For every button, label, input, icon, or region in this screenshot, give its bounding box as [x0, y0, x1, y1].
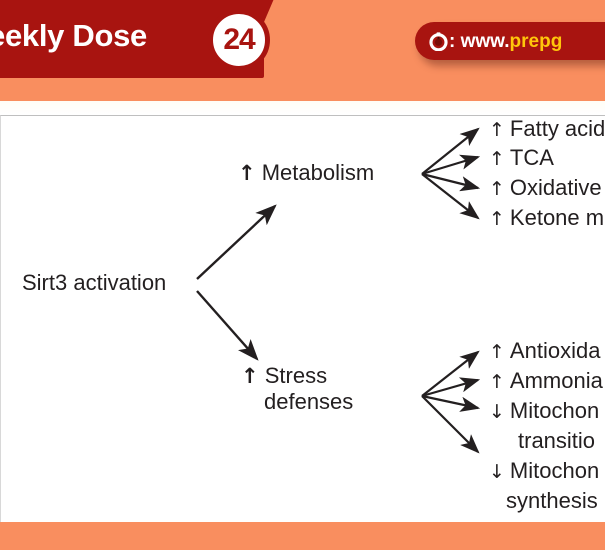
website-url-pill[interactable]: : www.prepg — [415, 22, 605, 60]
arrow-sirt3-to-stress — [197, 291, 257, 359]
outcome-stress-4: ↓Mitochon — [489, 458, 599, 485]
outcome-stress-3: ↓Mitochon — [489, 398, 599, 425]
arrow-stress-2 — [422, 380, 478, 396]
outcome-stress-1-label: Antioxida — [510, 338, 601, 363]
up-arrow-icon: ↑ — [489, 341, 505, 363]
node-sirt3-activation: Sirt3 activation — [22, 270, 166, 296]
outcome-metabolism-3: ↑Oxidative — [489, 175, 602, 202]
arrow-metabolism-2 — [422, 157, 478, 174]
diagram-panel: Sirt3 activation ↑ Metabolism ↑ Stress d… — [0, 115, 605, 522]
url-accent: prepg — [510, 31, 563, 52]
issue-number-label: 24 — [223, 25, 254, 55]
up-arrow-icon: ↑ — [489, 119, 505, 141]
outcome-stress-3-continuation: transitio — [518, 428, 595, 454]
node-metabolism: ↑ Metabolism — [238, 160, 374, 186]
outcome-metabolism-1: ↑Fatty acid — [489, 116, 605, 143]
header-underline — [0, 101, 605, 115]
url-prefix: : www. — [449, 31, 510, 52]
node-metabolism-label: Metabolism — [262, 160, 374, 185]
footer-band — [0, 522, 605, 550]
outcome-metabolism-1-label: Fatty acid — [510, 116, 605, 141]
up-arrow-icon: ↑ — [489, 148, 505, 170]
up-arrow-icon: ↑ — [241, 364, 259, 388]
node-stress-defenses: ↑ Stress — [241, 363, 327, 389]
arrow-stress-1 — [422, 352, 478, 396]
header-banner: eekly Dose 24 : www.prepg — [0, 0, 605, 101]
node-stress-label-line1: Stress — [265, 363, 327, 388]
outcome-metabolism-3-label: Oxidative — [510, 175, 602, 200]
outcome-metabolism-4-label: Ketone m — [510, 205, 604, 230]
arrow-stress-3 — [422, 396, 478, 408]
up-arrow-icon: ↑ — [489, 208, 505, 230]
down-arrow-icon: ↓ — [489, 461, 505, 483]
issue-number-badge: 24 — [208, 9, 270, 71]
node-stress-label-line2: defenses — [264, 389, 353, 415]
up-arrow-icon: ↑ — [489, 371, 505, 393]
down-arrow-icon: ↓ — [489, 401, 505, 423]
website-url-text: : www.prepg — [449, 32, 562, 51]
arrow-sirt3-to-metabolism — [197, 206, 275, 279]
outcome-metabolism-4: ↑Ketone m — [489, 205, 604, 232]
outcome-stress-2: ↑Ammonia — [489, 368, 603, 395]
arrow-stress-4 — [422, 396, 478, 452]
outcome-stress-2-label: Ammonia — [510, 368, 603, 393]
outcome-metabolism-2-label: TCA — [510, 145, 554, 170]
arrow-metabolism-1 — [422, 129, 478, 174]
page-title: eekly Dose — [0, 14, 218, 58]
up-arrow-icon: ↑ — [489, 178, 505, 200]
outcome-stress-4-label: Mitochon — [510, 458, 599, 483]
up-arrow-icon: ↑ — [238, 161, 256, 185]
outcome-stress-1: ↑Antioxida — [489, 338, 600, 365]
outcome-stress-4-continuation: synthesis — [506, 488, 598, 514]
outcome-stress-3-label: Mitochon — [510, 398, 599, 423]
stopwatch-icon — [429, 32, 448, 51]
outcome-metabolism-2: ↑TCA — [489, 145, 554, 172]
